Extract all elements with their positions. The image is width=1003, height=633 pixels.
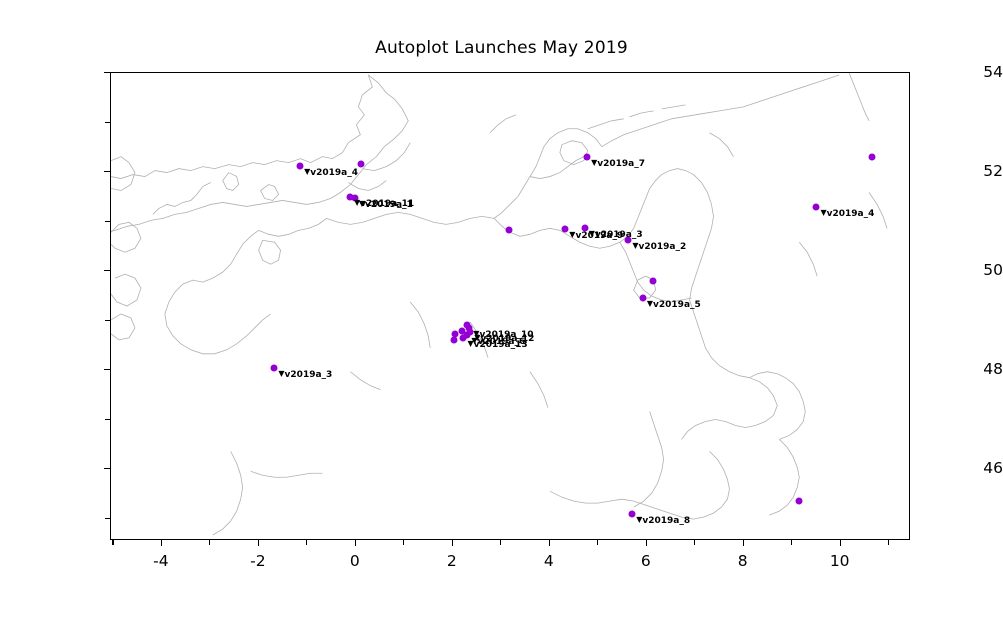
- scatter-point-label: ▼v2019a_3: [278, 369, 332, 380]
- y-tick-label: 48: [907, 360, 1003, 378]
- x-tick-label: 8: [713, 552, 773, 570]
- y-tick-label: 52: [907, 162, 1003, 180]
- scatter-point-label: ▼v2019a_1: [359, 199, 413, 210]
- matplotlib-figure: Autoplot Launches May 2019 5452504846-4-…: [0, 0, 1003, 633]
- x-tick-major: [452, 540, 453, 546]
- x-tick-minor: [500, 540, 501, 545]
- y-tick-label: 46: [907, 459, 1003, 477]
- x-tick-label: 2: [422, 552, 482, 570]
- x-tick-major: [355, 540, 356, 546]
- x-tick-label: -4: [131, 552, 191, 570]
- y-tick-label: 54: [907, 63, 1003, 81]
- x-tick-major: [646, 540, 647, 546]
- scatter-point-label: ▼v2019a_13: [467, 339, 527, 350]
- scatter-point-label: ▼v2019a_2: [632, 241, 686, 252]
- scatter-point-label: ▼v2019a_4: [304, 167, 358, 178]
- scatter-point-label: ▼v2019a_5: [647, 299, 701, 310]
- x-tick-label: 10: [810, 552, 870, 570]
- x-tick-minor: [209, 540, 210, 545]
- x-tick-minor: [306, 540, 307, 545]
- scatter-point-label: ▼v2019a_7: [591, 158, 645, 169]
- x-tick-label: 6: [616, 552, 676, 570]
- scatter-point-label: ▼v2019a_4: [820, 208, 874, 219]
- x-tick-minor: [791, 540, 792, 545]
- x-tick-major: [743, 540, 744, 546]
- page-title: Autoplot Launches May 2019: [0, 38, 1003, 58]
- x-tick-major: [549, 540, 550, 546]
- x-tick-minor: [694, 540, 695, 545]
- x-tick-minor: [403, 540, 404, 545]
- scatter-point-label: ▼v2019a_3: [589, 229, 643, 240]
- x-tick-major: [840, 540, 841, 546]
- x-tick-minor: [888, 540, 889, 545]
- y-tick-label: 50: [907, 261, 1003, 279]
- x-tick-major: [161, 540, 162, 546]
- x-tick-label: 4: [519, 552, 579, 570]
- scatter-point-label: ▼v2019a_8: [636, 515, 690, 526]
- x-tick-minor: [112, 540, 113, 545]
- scatter-labels: ▼v2019a_4▼v2019a_11▼v2019a_1▼v2019a_7▼v2…: [111, 73, 909, 539]
- x-tick-major: [258, 540, 259, 546]
- x-tick-label: 0: [325, 552, 385, 570]
- x-tick-label: -2: [228, 552, 288, 570]
- x-tick-minor: [597, 540, 598, 545]
- plot-area: ▼v2019a_4▼v2019a_11▼v2019a_1▼v2019a_7▼v2…: [110, 72, 910, 540]
